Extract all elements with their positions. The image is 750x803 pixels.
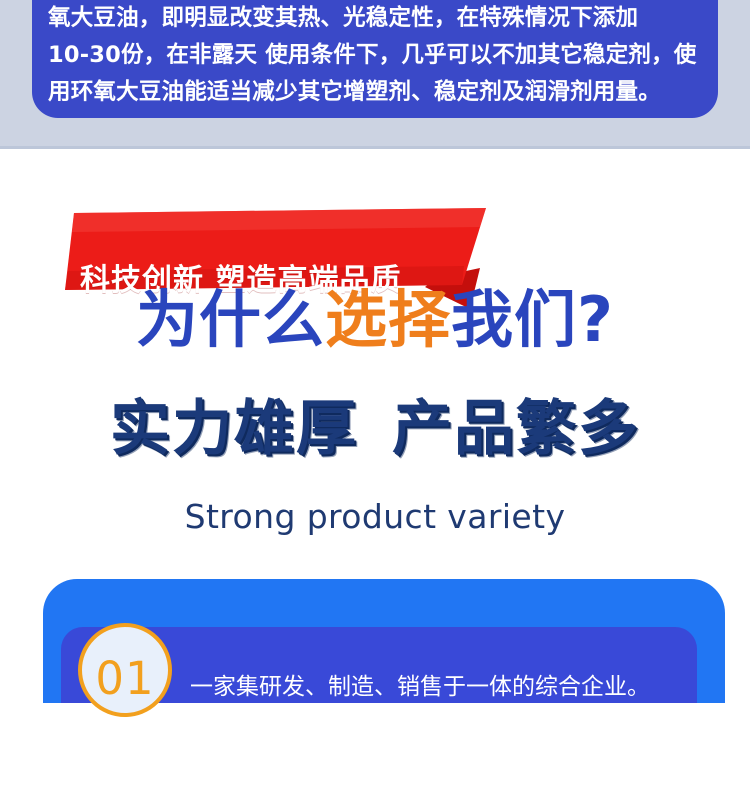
strength-right: 产品繁多	[392, 394, 640, 464]
top-band: 氧大豆油，即明显改变其热、光稳定性，在特殊情况下添加 10-30份，在非露天 使…	[0, 0, 750, 149]
strength-left: 实力雄厚	[110, 394, 358, 464]
headline-part-2: 选择	[325, 283, 451, 356]
headline-part-1: 为什么	[136, 283, 325, 356]
headline-part-3: 我们?	[451, 283, 614, 356]
why-choose-us-section: 科技创新 塑造高端品质 为什么选择我们? 实力雄厚产品繁多 Strong pro…	[0, 149, 750, 579]
advantage-line-1: 一家集研发、制造、销售于一体的综合企业。	[190, 671, 690, 704]
advantage-description: 一家集研发、制造、销售于一体的综合企业。 公司拥有自主生产权，产品远销各地	[190, 638, 690, 803]
strength-headline: 实力雄厚产品繁多	[0, 399, 750, 459]
english-subtitle: Strong product variety	[0, 497, 750, 536]
advantage-number: 01	[95, 656, 154, 701]
intro-panel: 氧大豆油，即明显改变其热、光稳定性，在特殊情况下添加 10-30份，在非露天 使…	[32, 0, 718, 118]
page-headline: 为什么选择我们?	[0, 289, 750, 351]
intro-paragraph: 氧大豆油，即明显改变其热、光稳定性，在特殊情况下添加 10-30份，在非露天 使…	[48, 0, 702, 111]
advantage-line-2: 公司拥有自主生产权，产品远销各地	[190, 737, 690, 770]
